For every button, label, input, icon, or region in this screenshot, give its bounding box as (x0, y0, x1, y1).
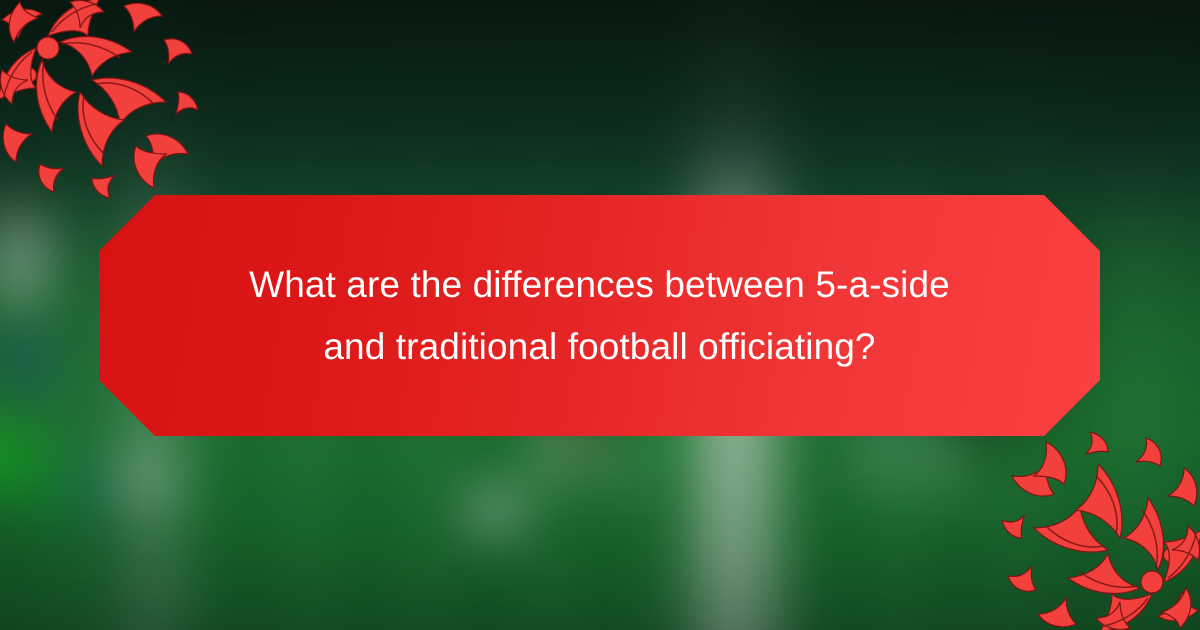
question-card: What are the differences between 5-a-sid… (0, 0, 1200, 630)
question-title: What are the differences between 5-a-sid… (210, 254, 990, 377)
question-banner: What are the differences between 5-a-sid… (99, 195, 1100, 436)
